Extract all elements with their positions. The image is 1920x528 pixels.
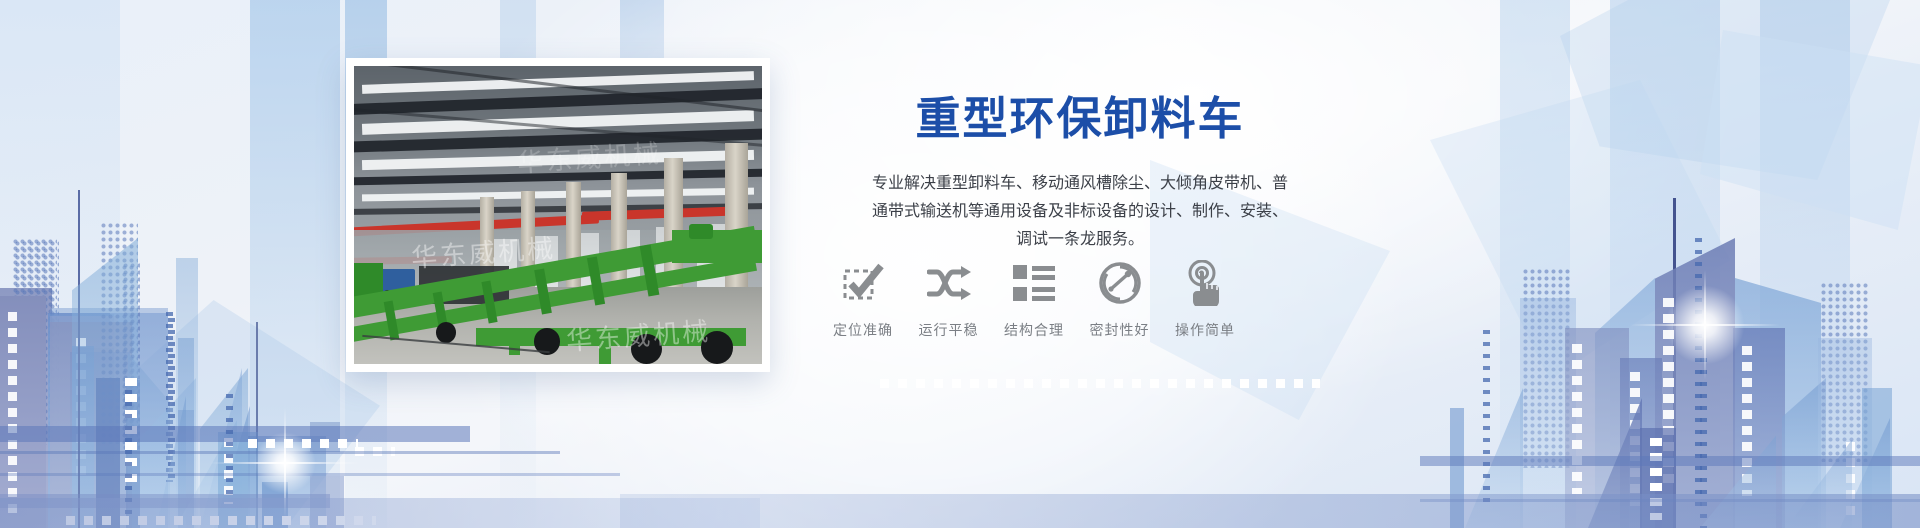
skyline-building [72, 348, 114, 528]
dotted-column [1700, 358, 1707, 528]
light-beam [1610, 0, 1720, 528]
skyline-building [48, 313, 168, 528]
skyline-building [176, 258, 198, 528]
horizontal-band [0, 426, 470, 442]
skyline-building [48, 313, 110, 528]
horizontal-band [0, 451, 560, 454]
skyline-building [1733, 328, 1785, 528]
skyline-building [72, 346, 94, 528]
skyline-building [310, 476, 344, 528]
building-windows [1630, 372, 1640, 506]
banner-description: 专业解决重型卸料车、移动通风槽除尘、大倾角皮带机、普通带式输送机等通用设备及非标… [870, 169, 1290, 253]
skyline-building [1840, 418, 1890, 528]
light-beam [250, 0, 340, 528]
concrete-column [566, 182, 581, 301]
horizontal-band [0, 473, 620, 476]
green-support-leg [509, 328, 520, 355]
building-windows [8, 312, 17, 514]
skyline-building [50, 316, 118, 528]
hero-banner: 华东威机械 华东威机械 华东威机械 重型环保卸料车 专业解决重型卸料车、移动通风… [0, 0, 1920, 528]
square-row [1650, 438, 1662, 520]
skyline-building [1465, 388, 1523, 528]
skyline-building [140, 378, 196, 528]
square-row [248, 439, 358, 448]
feature-item-positioning[interactable]: 定位准确 [824, 258, 902, 340]
feature-label: 密封性好 [1081, 320, 1159, 340]
building-windows [224, 438, 233, 504]
skyline-building [1595, 278, 1655, 528]
dotted-column [125, 390, 132, 520]
skyline-building [72, 238, 138, 528]
skyline-building [218, 432, 258, 528]
skyline-building [178, 338, 194, 528]
horizontal-band [1420, 456, 1920, 466]
square-row [355, 447, 395, 456]
skyline-building [310, 422, 340, 452]
square-row [125, 378, 137, 488]
dotted-column [226, 394, 233, 494]
building-window-dots [122, 262, 140, 452]
skyline-building [1620, 358, 1662, 528]
feature-list: 定位准确 运行平稳 [824, 258, 1244, 340]
skyline-building [0, 288, 52, 528]
skyline-building [126, 380, 140, 528]
skyline-building [262, 482, 288, 528]
machine-wheel [436, 322, 456, 343]
building-window-dots [14, 240, 59, 445]
horizontal-band [0, 498, 760, 528]
skyline-building [96, 378, 120, 528]
dotted-column [1695, 238, 1702, 508]
product-photo-card[interactable]: 华东威机械 华东威机械 华东威机械 [346, 58, 770, 372]
light-flare [250, 428, 320, 498]
building-windows [76, 338, 86, 476]
skyline-building [1862, 388, 1892, 528]
roof-skylight [362, 188, 754, 202]
skyline-building [1520, 298, 1576, 528]
horizontal-band [0, 494, 330, 508]
square-row [880, 379, 1320, 388]
green-machine-drum [689, 224, 713, 239]
building-window-dots [100, 222, 138, 444]
dotted-column [1483, 330, 1490, 510]
list-blocks-icon [995, 258, 1073, 308]
feature-label: 运行平稳 [910, 320, 988, 340]
feature-label: 结构合理 [995, 320, 1073, 340]
skyline-building [72, 428, 90, 528]
skyline-building [0, 296, 46, 528]
skyline-building [1588, 398, 1642, 528]
building-window-dots [12, 238, 57, 438]
building-windows [1572, 344, 1582, 494]
skyline-building [178, 410, 194, 528]
building-window-dots [1522, 268, 1572, 468]
shuffle-arrows-icon [910, 258, 988, 308]
feature-item-easy-operation[interactable]: 操作简单 [1166, 258, 1244, 340]
building-windows [1663, 298, 1674, 488]
skyline-building [214, 406, 250, 528]
polygon-facet [1430, 80, 1730, 380]
dotted-column [166, 312, 173, 482]
skyline-building [50, 322, 132, 528]
skyline-building [175, 408, 237, 528]
skyline-building [48, 314, 114, 528]
skyline-building [1786, 432, 1852, 528]
skyline-tower [1673, 198, 1676, 528]
product-photo: 华东威机械 华东威机械 华东威机械 [354, 66, 762, 364]
polygon-facet [60, 300, 380, 528]
tap-hand-icon [1166, 258, 1244, 308]
page-title: 重型环保卸料车 [800, 92, 1360, 145]
skyline-building [1700, 418, 1776, 528]
skyline-building [70, 352, 130, 528]
light-flare [1660, 280, 1750, 370]
building-windows [10, 306, 19, 518]
vertical-line [256, 322, 258, 528]
skyline-building [50, 308, 168, 528]
building-windows [1846, 442, 1855, 520]
green-machine-head [672, 230, 762, 263]
light-beam [1760, 0, 1850, 528]
polygon-facet [1560, 0, 1890, 180]
light-beam [0, 0, 120, 528]
feature-item-smooth-running[interactable]: 运行平稳 [910, 258, 988, 340]
building-windows [1742, 346, 1752, 496]
skyline-building [1565, 328, 1629, 528]
horizontal-band [620, 494, 1920, 528]
banner-content: 重型环保卸料车 专业解决重型卸料车、移动通风槽除尘、大倾角皮带机、普通带式输送机… [800, 92, 1360, 253]
building-window-dots [1820, 282, 1870, 462]
seal-gauge-icon [1081, 258, 1159, 308]
skyline-building [1640, 428, 1676, 528]
skyline-building [156, 396, 186, 528]
skyline-building [200, 368, 248, 528]
feature-item-sealing[interactable]: 密封性好 [1081, 258, 1159, 340]
light-beam [1500, 0, 1570, 528]
horizontal-band [1420, 499, 1920, 502]
square-row [66, 516, 376, 525]
feature-label: 定位准确 [824, 320, 902, 340]
dotted-column [168, 318, 175, 486]
feature-label: 操作简单 [1166, 320, 1244, 340]
skyline-building [248, 436, 326, 528]
skyline-building [128, 353, 170, 528]
skyline-building [1450, 408, 1464, 528]
skyline-building [1818, 338, 1872, 528]
skyline-tower [78, 190, 80, 528]
polygon-facet [1700, 30, 1920, 230]
checkbox-check-icon [824, 258, 902, 308]
skyline-building [1782, 378, 1826, 528]
skyline-building [1655, 238, 1735, 528]
skyline-building [200, 368, 242, 528]
skyline-building [50, 376, 100, 528]
skyline-building [1735, 278, 1821, 528]
feature-item-structure[interactable]: 结构合理 [995, 258, 1073, 340]
